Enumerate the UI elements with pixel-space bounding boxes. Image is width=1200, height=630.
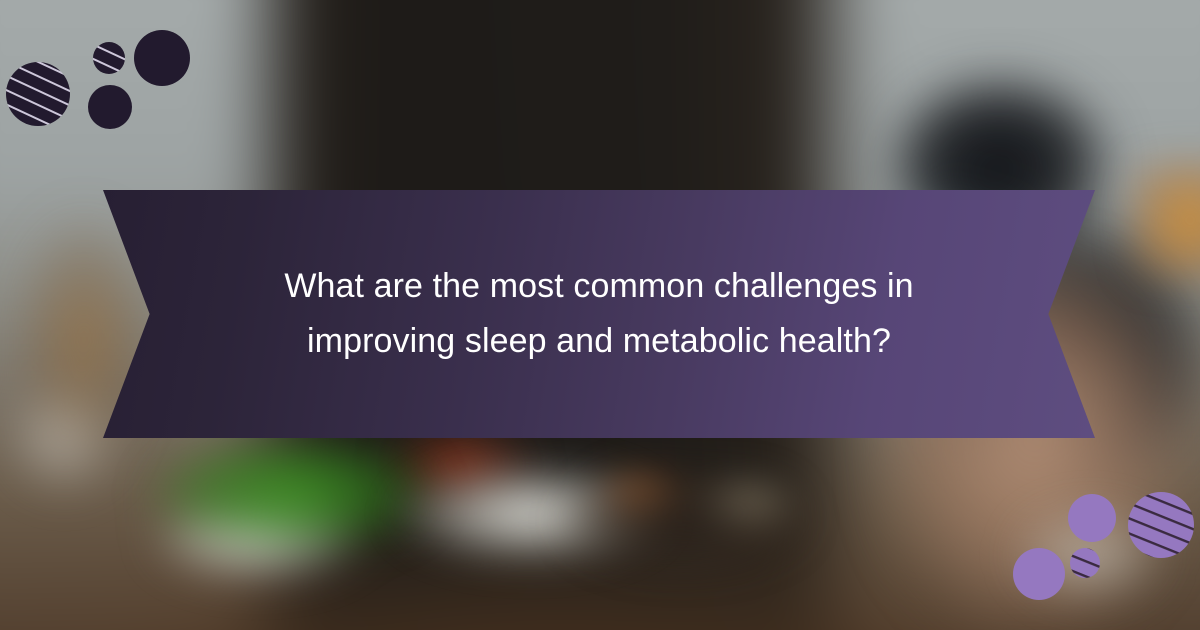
background-orange-blur bbox=[1130, 160, 1200, 280]
decor-br-medium-solid-circle bbox=[1068, 494, 1116, 542]
decor-br-small-striped-circle bbox=[1070, 548, 1100, 578]
decor-br-lower-solid-circle bbox=[1013, 548, 1065, 600]
decor-bottom-right-svg bbox=[1000, 480, 1200, 630]
decor-cluster-top-left bbox=[0, 0, 200, 160]
banner-title-text: What are the most common challenges in i… bbox=[179, 259, 1019, 369]
share-card-canvas: What are the most common challenges in i… bbox=[0, 0, 1200, 630]
title-banner: What are the most common challenges in i… bbox=[103, 190, 1095, 438]
background-plate-blur bbox=[540, 440, 840, 600]
decor-top-left-svg bbox=[0, 0, 200, 160]
decor-large-solid-circle bbox=[134, 30, 190, 86]
decor-medium-solid-circle bbox=[88, 85, 132, 129]
decor-cluster-bottom-right bbox=[1000, 480, 1200, 630]
decor-br-large-striped-circle bbox=[1128, 492, 1194, 558]
decor-small-striped-circle bbox=[93, 42, 125, 74]
decor-large-striped-circle bbox=[6, 62, 70, 126]
